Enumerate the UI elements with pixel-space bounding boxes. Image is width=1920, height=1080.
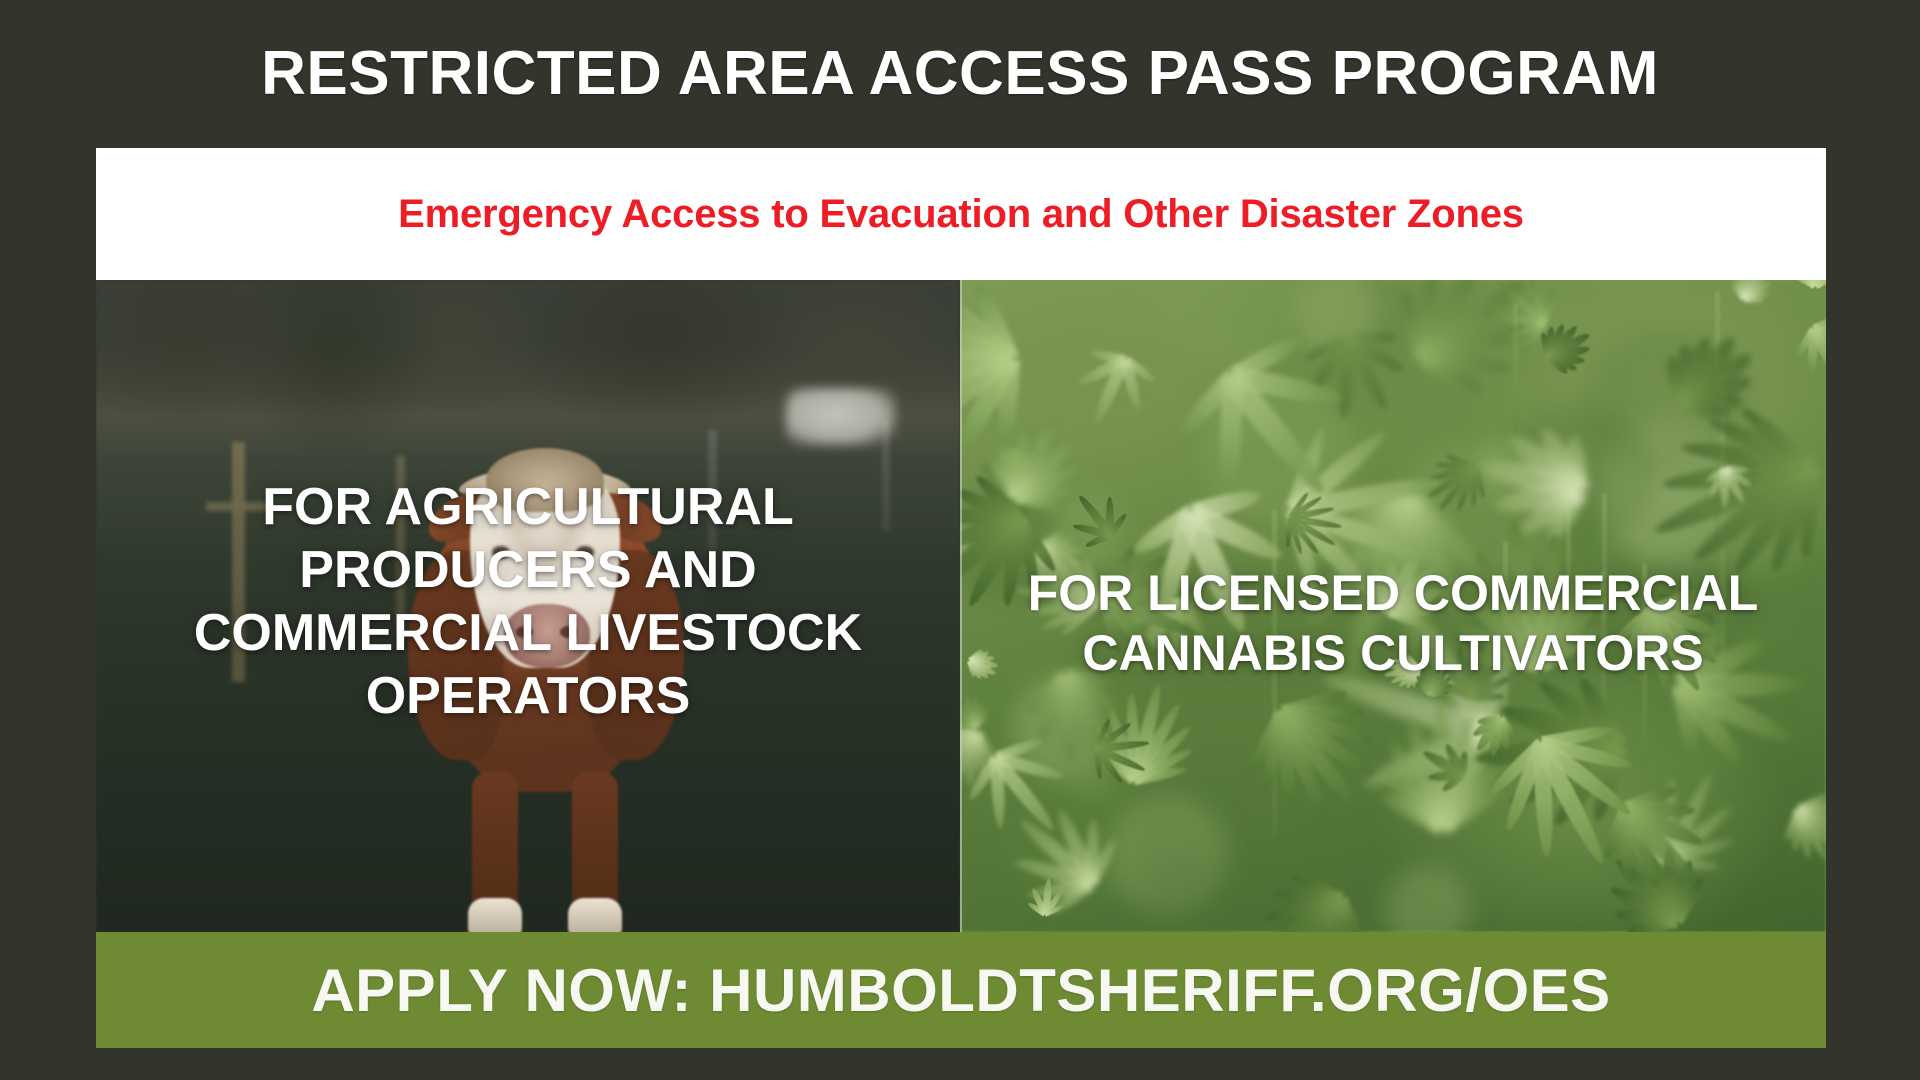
foliage-bokeh: [1066, 743, 1121, 800]
poster-card: Emergency Access to Evacuation and Other…: [96, 148, 1826, 1048]
foliage-bokeh: [1145, 857, 1240, 922]
foliage-bokeh: [1514, 292, 1572, 347]
poster-root: RESTRICTED AREA ACCESS PASS PROGRAM Emer…: [0, 0, 1920, 1080]
panel-agricultural-livestock: FOR AGRICULTURAL PRODUCERS AND COMMERCIA…: [96, 280, 960, 932]
title-bar: RESTRICTED AREA ACCESS PASS PROGRAM: [0, 0, 1920, 148]
background-vehicle: [786, 388, 896, 446]
panel-divider: [960, 280, 962, 932]
panel-caption-agricultural-livestock: FOR AGRICULTURAL PRODUCERS AND COMMERCIA…: [96, 476, 960, 728]
foliage-bokeh: [1663, 705, 1736, 785]
panel-cannabis-cultivators: FOR LICENSED COMMERCIAL CANNABIS CULTIVA…: [960, 280, 1826, 932]
page-title: RESTRICTED AREA ACCESS PASS PROGRAM: [261, 43, 1659, 105]
cannabis-stem: [1513, 304, 1518, 450]
subtitle-text: Emergency Access to Evacuation and Other…: [398, 192, 1524, 237]
apply-now-link[interactable]: APPLY NOW: HUMBOLDTSHERIFF.ORG/OES: [311, 956, 1610, 1025]
panel-caption-cannabis-cultivators: FOR LICENSED COMMERCIAL CANNABIS CULTIVA…: [960, 563, 1826, 684]
foliage-bokeh: [1385, 867, 1471, 932]
cow-hoof-left: [468, 898, 522, 932]
foliage-bokeh: [1690, 446, 1826, 572]
foliage-bokeh: [1140, 280, 1305, 363]
foliage-bokeh: [1051, 493, 1121, 569]
cow-hoof-right: [568, 898, 622, 932]
subtitle-band: Emergency Access to Evacuation and Other…: [96, 148, 1826, 280]
foliage-bokeh: [1295, 280, 1378, 355]
footer-cta-bar[interactable]: APPLY NOW: HUMBOLDTSHERIFF.ORG/OES: [96, 932, 1826, 1048]
